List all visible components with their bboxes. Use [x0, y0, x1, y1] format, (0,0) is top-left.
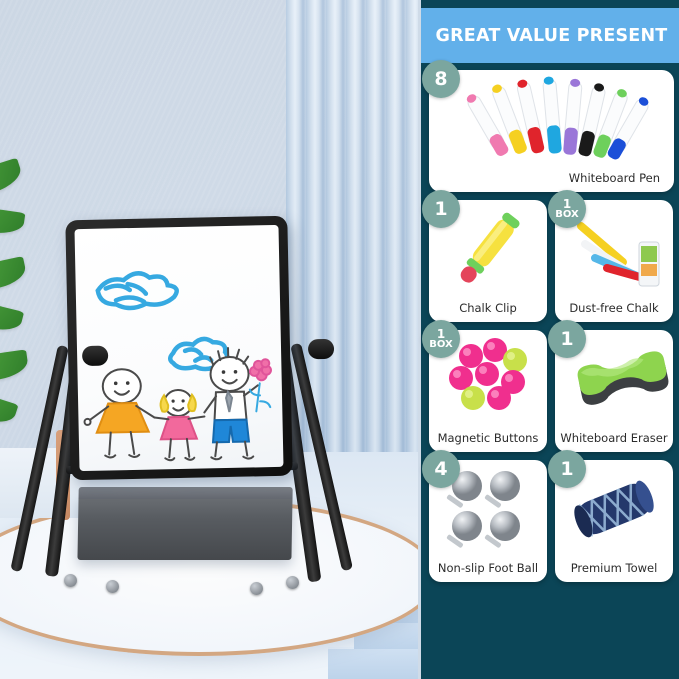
badge-count: 1	[560, 330, 573, 349]
accessory-card-premium-towel[interactable]: 1 Premiu	[555, 460, 673, 582]
kids-drawing	[74, 225, 283, 471]
product-image: GREAT VALUE PRESENT 8	[0, 0, 679, 679]
accessory-card-whiteboard-pen[interactable]: 8	[429, 70, 674, 192]
quantity-badge: 1 BOX	[548, 190, 586, 228]
banner-title: GREAT VALUE PRESENT	[436, 26, 668, 46]
accessory-label: Premium Towel	[555, 561, 673, 582]
lifestyle-photo	[0, 0, 418, 679]
accessory-card-magnetic-buttons[interactable]: 1 BOX	[429, 330, 547, 452]
accessory-card-non-slip-foot-ball[interactable]: 4	[429, 460, 547, 582]
board-frame	[65, 216, 292, 481]
quantity-badge: 8	[422, 60, 460, 98]
accessory-label: Whiteboard Eraser	[555, 431, 673, 452]
whiteboard-easel	[38, 218, 338, 608]
badge-unit: BOX	[555, 210, 578, 220]
accessory-label: Dust-free Chalk	[555, 301, 673, 322]
storage-tray	[77, 496, 292, 560]
quantity-badge: 1	[548, 450, 586, 488]
board-knob-right	[308, 339, 334, 360]
quantity-badge: 4	[422, 450, 460, 488]
accessory-card-whiteboard-eraser[interactable]: 1 Whiteboard Eraser	[555, 330, 673, 452]
accessory-card-chalk-clip[interactable]: 1 Chalk Clip	[429, 200, 547, 322]
whiteboard-surface	[74, 225, 283, 471]
accessory-label: Whiteboard Pen	[429, 171, 674, 192]
badge-count: 8	[434, 70, 447, 89]
accessory-grid: 8	[429, 70, 674, 582]
quantity-badge: 1 BOX	[422, 320, 460, 358]
caster-wheel	[106, 580, 119, 593]
caster-wheel	[250, 582, 263, 595]
accessory-label: Magnetic Buttons	[429, 431, 547, 452]
quantity-badge: 1	[422, 190, 460, 228]
accessories-panel: GREAT VALUE PRESENT 8	[418, 0, 679, 679]
badge-count: 1	[560, 460, 573, 479]
quantity-badge: 1	[548, 320, 586, 358]
badge-count: 4	[434, 460, 447, 479]
badge-unit: BOX	[429, 340, 452, 350]
accessory-label: Non-slip Foot Ball	[429, 561, 547, 582]
caster-wheel	[64, 574, 77, 587]
accessory-label: Chalk Clip	[429, 301, 547, 322]
accessory-card-dust-free-chalk[interactable]: 1 BOX Du	[555, 200, 673, 322]
banner-great-value-present: GREAT VALUE PRESENT	[421, 8, 679, 63]
caster-wheel	[286, 576, 299, 589]
badge-count: 1	[434, 200, 447, 219]
marker-pens-icon	[429, 70, 674, 171]
board-knob-left	[82, 345, 108, 366]
